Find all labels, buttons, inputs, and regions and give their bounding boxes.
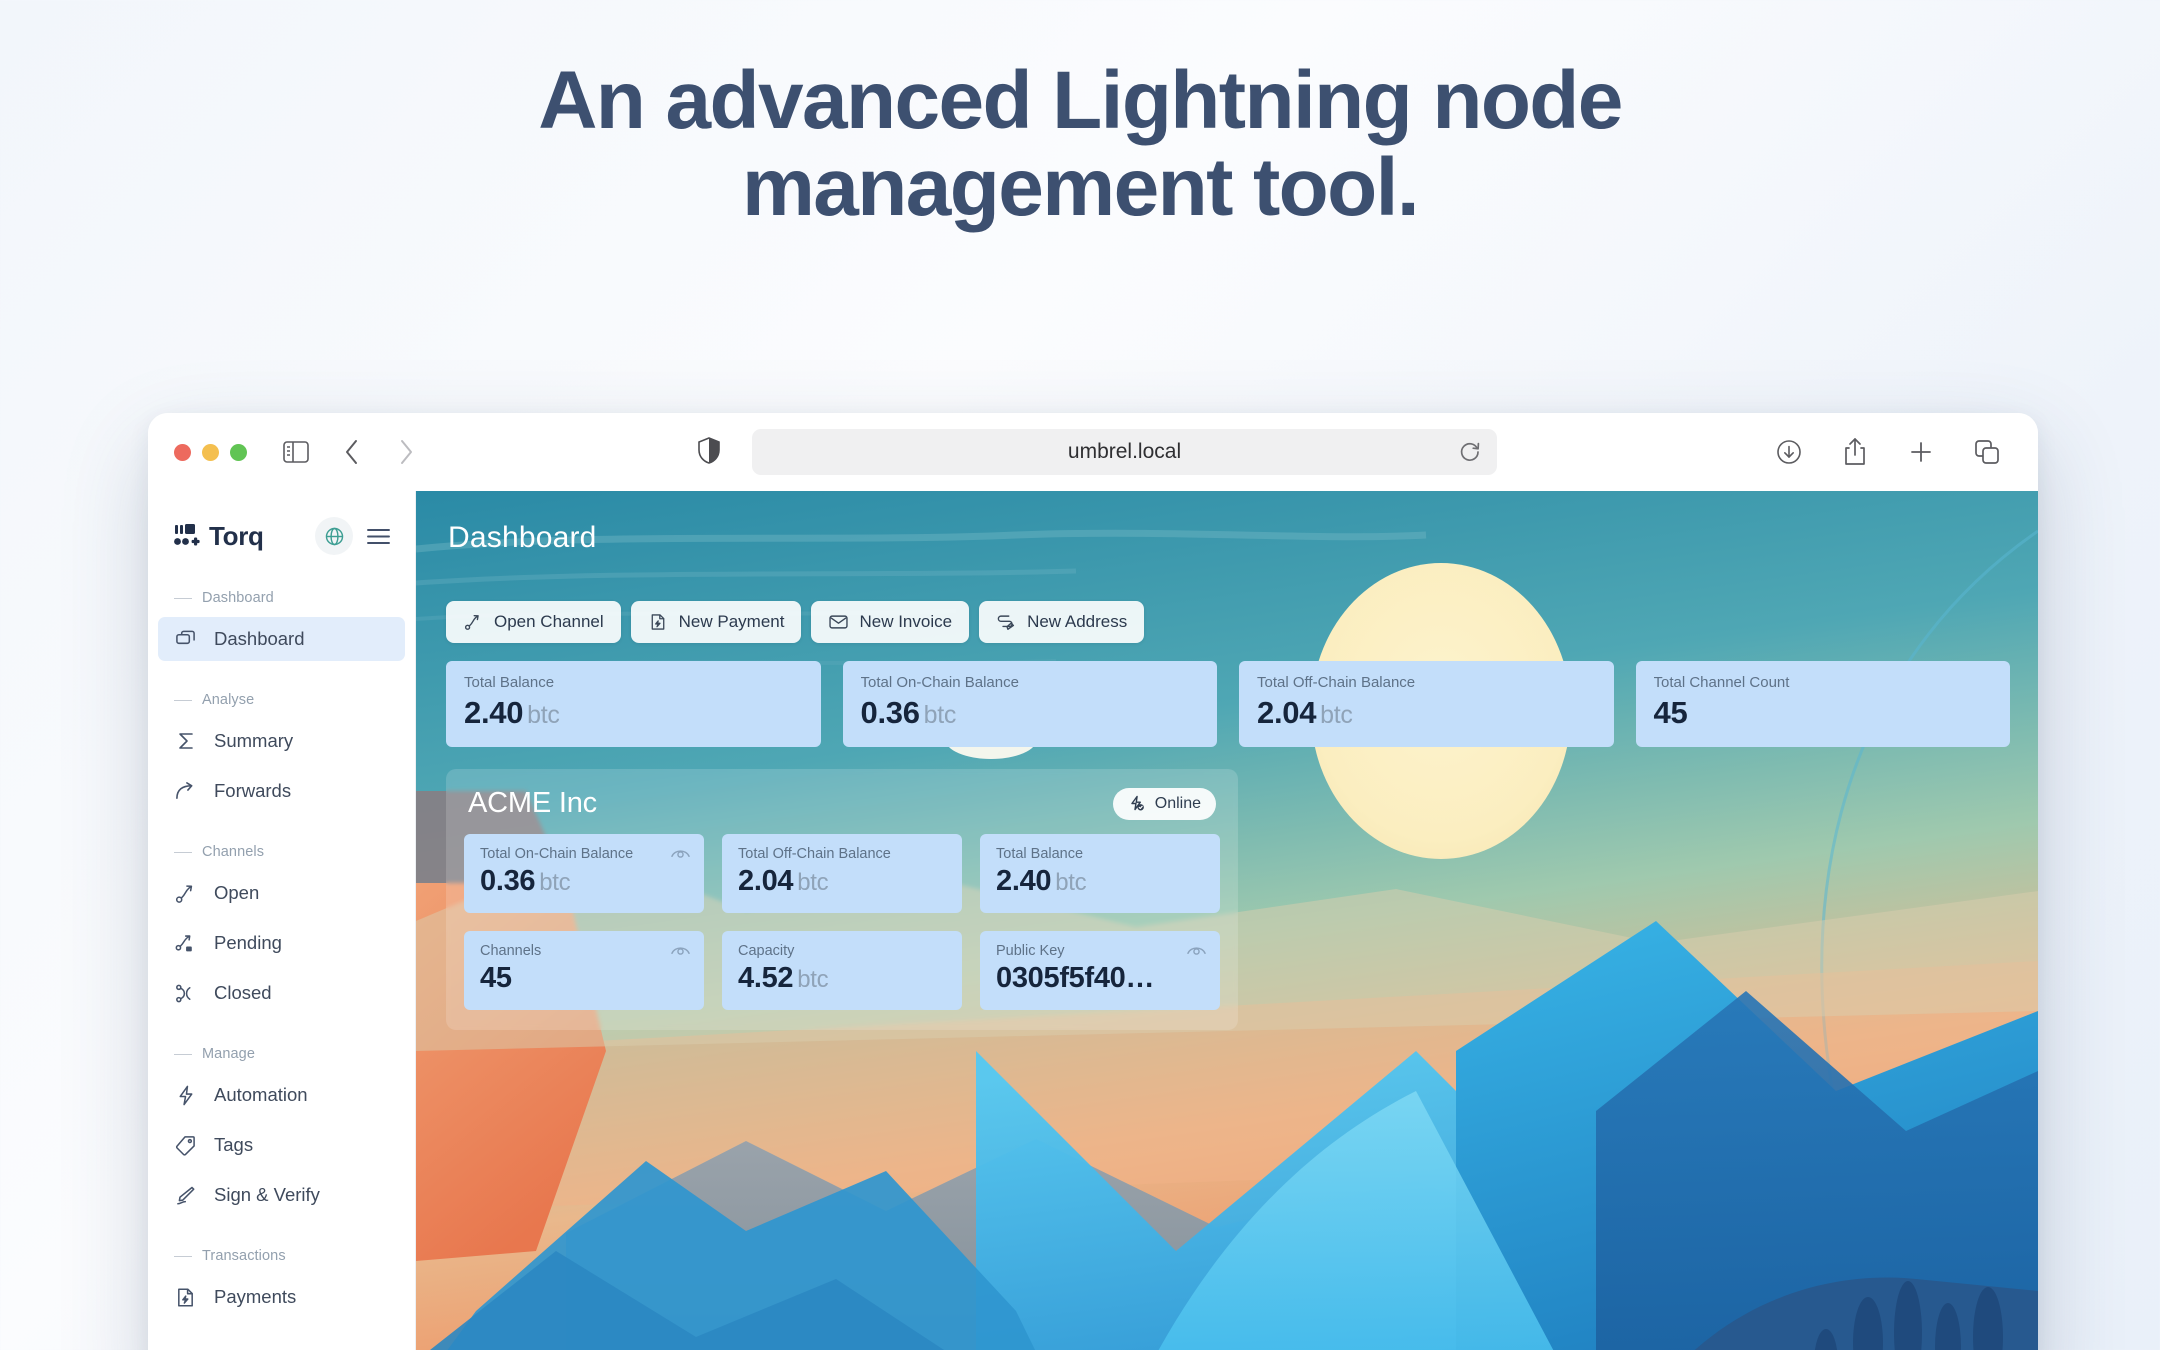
section-rule <box>174 1054 192 1055</box>
back-icon[interactable] <box>331 431 373 473</box>
node-card-unit: btc <box>539 869 570 896</box>
sidebar-item-payments[interactable]: Payments <box>158 1275 405 1319</box>
node-card-public-key[interactable]: Public Key 0305f5f40… <box>980 931 1220 1010</box>
node-card-number: 2.04 <box>738 865 793 897</box>
section-rule <box>174 700 192 701</box>
window-traffic-lights <box>174 444 247 461</box>
sidebar-item-label: Tags <box>214 1134 253 1156</box>
node-card-total-offchain-balance[interactable]: Total Off-Chain Balance 2.04btc <box>722 834 962 913</box>
browser-right-controls <box>1768 431 2008 473</box>
eye-icon[interactable] <box>671 846 690 859</box>
stat-unit: btc <box>527 701 559 729</box>
action-label: New Invoice <box>859 612 952 632</box>
lightning-bolt-icon <box>174 1084 197 1107</box>
node-card-channels[interactable]: Channels 45 <box>464 931 704 1010</box>
sidebar-item-label: Pending <box>214 932 282 954</box>
sidebar-item-open[interactable]: Open <box>158 871 405 915</box>
node-card-unit: btc <box>797 966 828 993</box>
node-card-value: 2.04btc <box>738 865 946 898</box>
action-label: Open Channel <box>494 612 604 632</box>
sidebar-item-forwards[interactable]: Forwards <box>158 769 405 813</box>
pen-sign-icon <box>174 1184 197 1207</box>
stat-label: Total Balance <box>464 674 803 691</box>
stat-label: Total On-Chain Balance <box>861 674 1200 691</box>
payment-icon <box>174 1286 197 1309</box>
sidebar-section-manage: Manage <box>148 1041 415 1067</box>
summary-stat-row: Total Balance 2.40btc Total On-Chain Bal… <box>446 661 2010 747</box>
close-window-button[interactable] <box>174 444 191 461</box>
app-sidebar: Torq Dashboard <box>148 491 416 1350</box>
action-label: New Address <box>1027 612 1127 632</box>
hamburger-icon[interactable] <box>363 521 393 551</box>
channel-closed-icon <box>174 982 197 1005</box>
url-text: umbrel.local <box>1068 440 1181 464</box>
new-address-icon <box>996 612 1016 632</box>
sidebar-item-label: Dashboard <box>214 628 305 650</box>
node-panel-header: ACME Inc Online <box>464 785 1220 834</box>
section-rule <box>174 598 192 599</box>
downloads-icon[interactable] <box>1768 431 1810 473</box>
status-label: Online <box>1155 795 1201 813</box>
section-label: Manage <box>202 1046 255 1062</box>
stat-card-total-onchain-balance[interactable]: Total On-Chain Balance 0.36btc <box>843 661 1218 747</box>
minimize-window-button[interactable] <box>202 444 219 461</box>
stat-unit: btc <box>1320 701 1352 729</box>
stat-card-total-channel-count[interactable]: Total Channel Count 45 <box>1636 661 2011 747</box>
node-card-value: 0305f5f40… <box>996 962 1204 995</box>
quick-actions: Open Channel New Payment <box>446 601 2010 643</box>
browser-toolbar: umbrel.local <box>148 413 2038 491</box>
stat-number: 2.40 <box>464 695 523 730</box>
sidebar-item-pending[interactable]: Pending <box>158 921 405 965</box>
window-body: Torq Dashboard <box>148 491 2038 1350</box>
dashboard-icon <box>174 628 197 651</box>
stat-label: Total Channel Count <box>1654 674 1993 691</box>
stat-number: 0.36 <box>861 695 920 730</box>
eye-icon[interactable] <box>1187 943 1206 956</box>
hero-section: An advanced Lightning node management to… <box>0 0 2160 232</box>
stat-value: 2.04btc <box>1257 695 1596 731</box>
headline-line-2: management tool. <box>0 145 2160 232</box>
stat-value: 2.40btc <box>464 695 803 731</box>
node-card-number: 4.52 <box>738 962 793 994</box>
page-title: Dashboard <box>448 521 2010 555</box>
page-headline: An advanced Lightning node management to… <box>0 58 2160 232</box>
sidebar-item-label: Summary <box>214 730 293 752</box>
dashboard-content: Dashboard Open Channel <box>416 491 2038 1030</box>
status-badge[interactable]: Online <box>1113 788 1216 820</box>
eye-icon[interactable] <box>671 943 690 956</box>
new-address-button[interactable]: New Address <box>979 601 1144 643</box>
section-label: Analyse <box>202 692 254 708</box>
sidebar-brand: Torq <box>148 505 415 559</box>
node-card-value: 0.36btc <box>480 865 688 898</box>
sigma-icon <box>174 730 197 753</box>
tag-icon <box>174 1134 197 1157</box>
sidebar-section-analyse: Analyse <box>148 687 415 713</box>
share-icon[interactable] <box>1834 431 1876 473</box>
sidebar-item-label: Sign & Verify <box>214 1184 320 1206</box>
node-card-grid: Total On-Chain Balance 0.36btc <box>464 834 1220 1010</box>
privacy-shield-icon[interactable] <box>688 429 730 471</box>
channel-open-icon <box>174 882 197 905</box>
sidebar-item-label: Forwards <box>214 780 291 802</box>
payment-icon <box>648 612 668 632</box>
new-tab-icon[interactable] <box>1900 431 1942 473</box>
node-card-label: Total On-Chain Balance <box>480 846 688 862</box>
node-card-number: 0.36 <box>480 865 535 897</box>
maximize-window-button[interactable] <box>230 444 247 461</box>
sidebar-item-dashboard[interactable]: Dashboard <box>158 617 405 661</box>
stat-value: 45 <box>1654 695 1993 731</box>
section-label: Dashboard <box>202 590 274 606</box>
node-card-label: Total Balance <box>996 846 1204 862</box>
node-card-label: Channels <box>480 943 688 959</box>
section-label: Transactions <box>202 1248 286 1264</box>
sidebar-item-label: Closed <box>214 982 272 1004</box>
tab-overview-icon[interactable] <box>1966 431 2008 473</box>
sidebar-item-sign-verify[interactable]: Sign & Verify <box>158 1173 405 1217</box>
node-card-label: Capacity <box>738 943 946 959</box>
globe-icon[interactable] <box>315 517 353 555</box>
stat-number: 45 <box>1654 695 1688 730</box>
browser-window: umbrel.local <box>148 413 2038 1350</box>
sidebar-item-summary[interactable]: Summary <box>158 719 405 763</box>
new-invoice-button[interactable]: New Invoice <box>811 601 969 643</box>
invoice-envelope-icon <box>828 612 848 632</box>
sidebar-section-transactions: Transactions <box>148 1243 415 1269</box>
node-online-icon <box>1128 795 1146 813</box>
node-panel: ACME Inc Online <box>446 769 1238 1030</box>
node-card-label: Total Off-Chain Balance <box>738 846 946 862</box>
stat-value: 0.36btc <box>861 695 1200 731</box>
node-name: ACME Inc <box>468 787 597 820</box>
headline-line-1: An advanced Lightning node <box>538 55 1622 146</box>
arrow-forward-icon <box>174 780 197 803</box>
action-label: New Payment <box>679 612 785 632</box>
sidebar-toggle-icon[interactable] <box>275 431 317 473</box>
channel-pending-icon <box>174 932 197 955</box>
sidebar-item-label: Open <box>214 882 259 904</box>
node-card-unit: btc <box>797 869 828 896</box>
stat-number: 2.04 <box>1257 695 1316 730</box>
node-card-value: 4.52btc <box>738 962 946 995</box>
sidebar-item-tags[interactable]: Tags <box>158 1123 405 1167</box>
address-bar-area: umbrel.local <box>427 429 1758 475</box>
section-label: Channels <box>202 844 264 860</box>
node-card-number: 2.40 <box>996 865 1051 897</box>
new-payment-button[interactable]: New Payment <box>631 601 802 643</box>
channel-open-icon <box>463 612 483 632</box>
torq-logo-icon[interactable]: Torq <box>174 521 315 552</box>
sidebar-item-label: Automation <box>214 1084 308 1106</box>
node-card-number: 0305f5f40… <box>996 962 1154 994</box>
app-main: Dashboard Open Channel <box>416 491 2038 1350</box>
node-card-number: 45 <box>480 962 512 994</box>
section-rule <box>174 852 192 853</box>
open-channel-button[interactable]: Open Channel <box>446 601 621 643</box>
sidebar-item-label: Payments <box>214 1286 296 1308</box>
node-card-value: 2.40btc <box>996 865 1204 898</box>
sidebar-section-dashboard: Dashboard <box>148 585 415 611</box>
stat-card-total-balance[interactable]: Total Balance 2.40btc <box>446 661 821 747</box>
node-card-total-onchain-balance[interactable]: Total On-Chain Balance 0.36btc <box>464 834 704 913</box>
node-card-label: Public Key <box>996 943 1204 959</box>
sidebar-item-automation[interactable]: Automation <box>158 1073 405 1117</box>
node-card-total-balance[interactable]: Total Balance 2.40btc <box>980 834 1220 913</box>
brand-name: Torq <box>209 521 264 552</box>
node-card-value: 45 <box>480 962 688 995</box>
forward-icon[interactable] <box>385 431 427 473</box>
section-rule <box>174 1256 192 1257</box>
stat-unit: btc <box>924 701 956 729</box>
sidebar-item-closed[interactable]: Closed <box>158 971 405 1015</box>
node-card-capacity[interactable]: Capacity 4.52btc <box>722 931 962 1010</box>
sidebar-section-channels: Channels <box>148 839 415 865</box>
node-card-unit: btc <box>1055 869 1086 896</box>
url-input[interactable]: umbrel.local <box>752 429 1497 475</box>
stat-label: Total Off-Chain Balance <box>1257 674 1596 691</box>
stat-card-total-offchain-balance[interactable]: Total Off-Chain Balance 2.04btc <box>1239 661 1614 747</box>
reload-icon[interactable] <box>1459 441 1481 463</box>
